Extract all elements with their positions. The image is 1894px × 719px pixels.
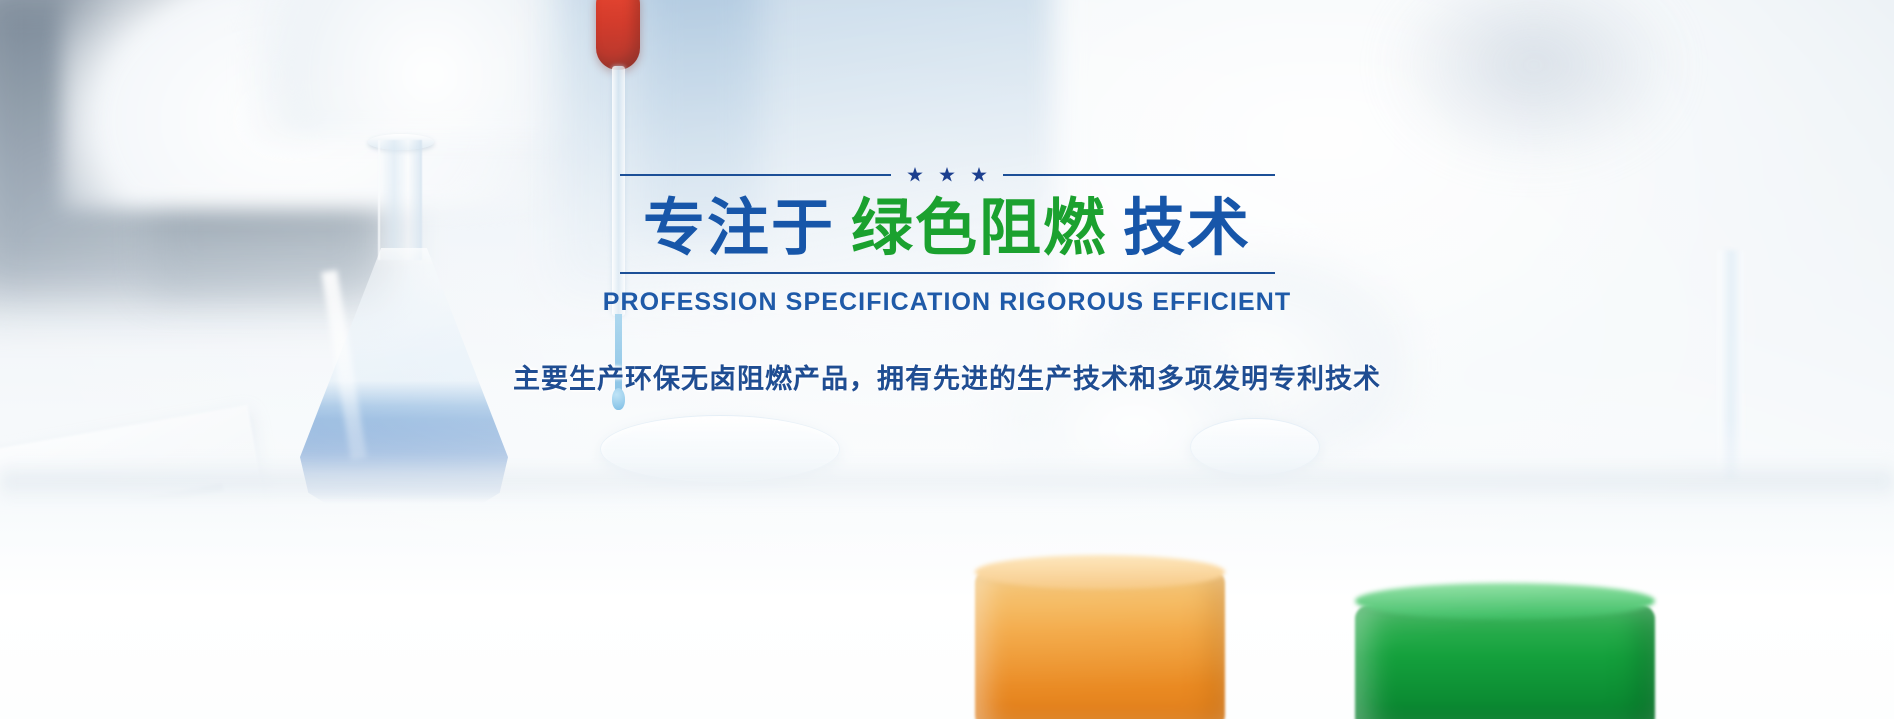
star-icon (971, 167, 987, 183)
beaker-orange (975, 571, 1225, 719)
headline: 专注于绿色阻燃技术 (643, 191, 1251, 264)
decorative-rule-top (620, 165, 1275, 185)
star-icon (907, 167, 923, 183)
headline-part-2: 绿色阻燃 (851, 191, 1107, 264)
headline-part-1: 专注于 (643, 191, 835, 264)
subtitle-english: PROFESSION SPECIFICATION RIGOROUS EFFICI… (603, 288, 1292, 317)
background-shadow (1384, 0, 1684, 170)
beaker-green-rim (1355, 583, 1655, 619)
gloved-hand-upper-secondary (250, 0, 610, 140)
rule-line-left (620, 174, 892, 176)
beaker-orange-rim (975, 555, 1225, 589)
description-chinese: 主要生产环保无卤阻燃产品，拥有先进的生产技术和多项发明专利技术 (513, 357, 1381, 396)
decorative-rule-bottom (620, 272, 1275, 274)
hero-banner: 专注于绿色阻燃技术 PROFESSION SPECIFICATION RIGOR… (0, 0, 1894, 719)
banner-content: 专注于绿色阻燃技术 PROFESSION SPECIFICATION RIGOR… (0, 165, 1894, 396)
pipette-red-bulb (596, 0, 640, 70)
beaker-green (1355, 605, 1655, 719)
rule-line-right (1003, 174, 1275, 176)
headline-part-3: 技术 (1123, 191, 1251, 264)
star-icon (939, 167, 955, 183)
star-group (891, 167, 1003, 183)
lab-bench-edge (0, 461, 1894, 501)
